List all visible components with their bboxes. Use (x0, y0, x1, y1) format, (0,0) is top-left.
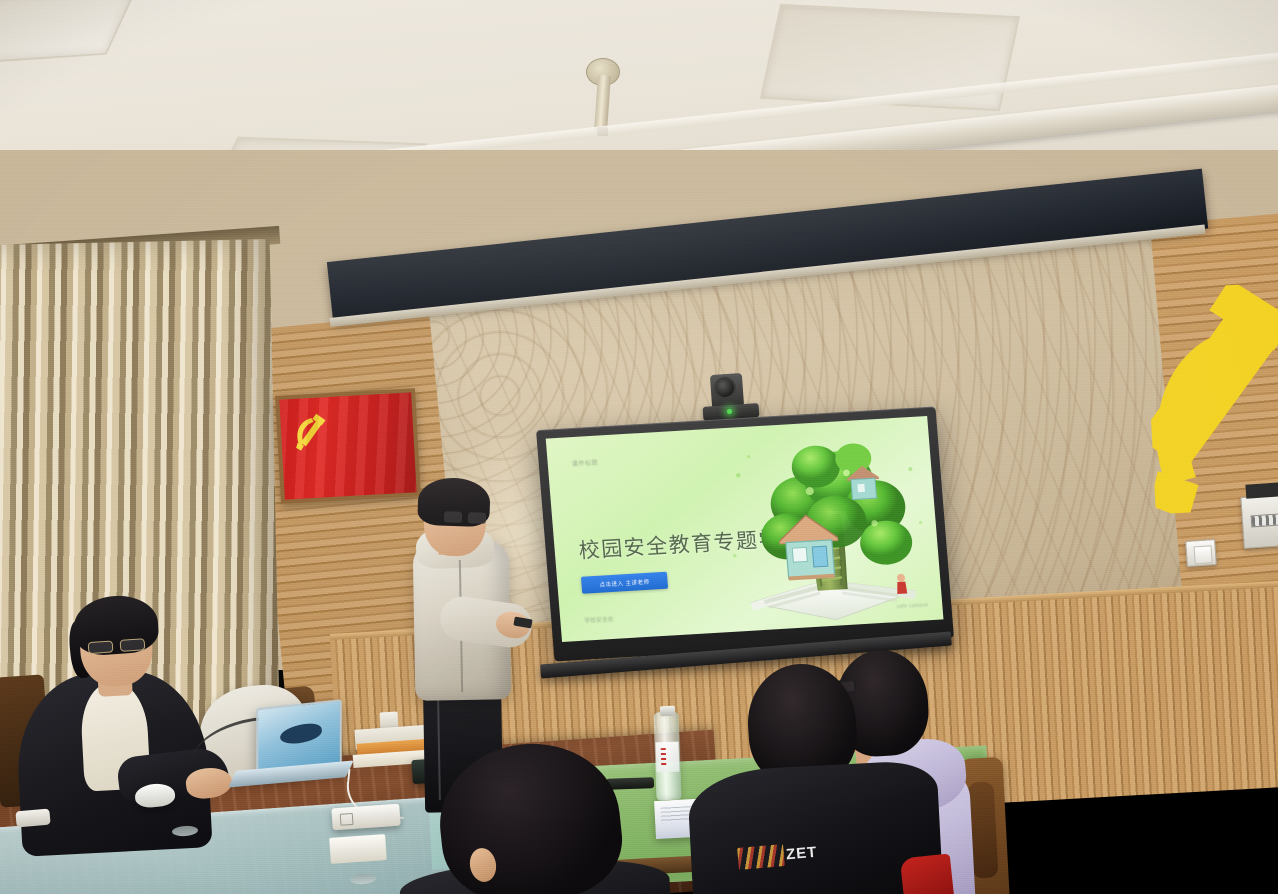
jacket-stripe-detail (737, 844, 785, 870)
interactive-flat-panel[interactable]: 课件标题 校园安全教育专题学习 点击进入 主讲老师 学校安全处 (536, 407, 954, 662)
display-screen[interactable]: 课件标题 校园安全教育专题学习 点击进入 主讲老师 学校安全处 (546, 416, 944, 642)
wall-control-panel[interactable] (1240, 493, 1278, 549)
bottle-label (655, 742, 679, 773)
light-switch[interactable] (1185, 539, 1217, 567)
desk-item[interactable] (15, 809, 50, 828)
whale-sticker-icon (279, 720, 322, 747)
power-strip[interactable] (331, 804, 400, 831)
meeting-room-photo: 课件标题 校园安全教育专题学习 点击进入 主讲老师 学校安全处 (0, 0, 1278, 894)
bottle-cap (660, 706, 675, 717)
red-garment (900, 854, 954, 894)
presenter-glasses-icon (444, 511, 486, 523)
hammer-and-sickle-emblem-icon (1144, 281, 1278, 515)
slide-footer-label: 学校安全处 (584, 615, 614, 625)
slide-top-label: 课件标题 (571, 458, 598, 469)
ceiling-vent-panel (0, 0, 139, 65)
control-panel-grille (1251, 513, 1278, 528)
slide-enter-button[interactable]: 点击进入 主讲老师 (581, 572, 668, 594)
camera-status-led (727, 409, 732, 414)
hammer-and-sickle-icon (289, 410, 339, 457)
remote-control[interactable] (606, 777, 654, 790)
jacket-logo-text: ZET (785, 844, 818, 864)
white-desk-box[interactable] (329, 834, 387, 864)
framed-party-flag (275, 388, 421, 504)
cpc-party-flag (279, 392, 416, 499)
